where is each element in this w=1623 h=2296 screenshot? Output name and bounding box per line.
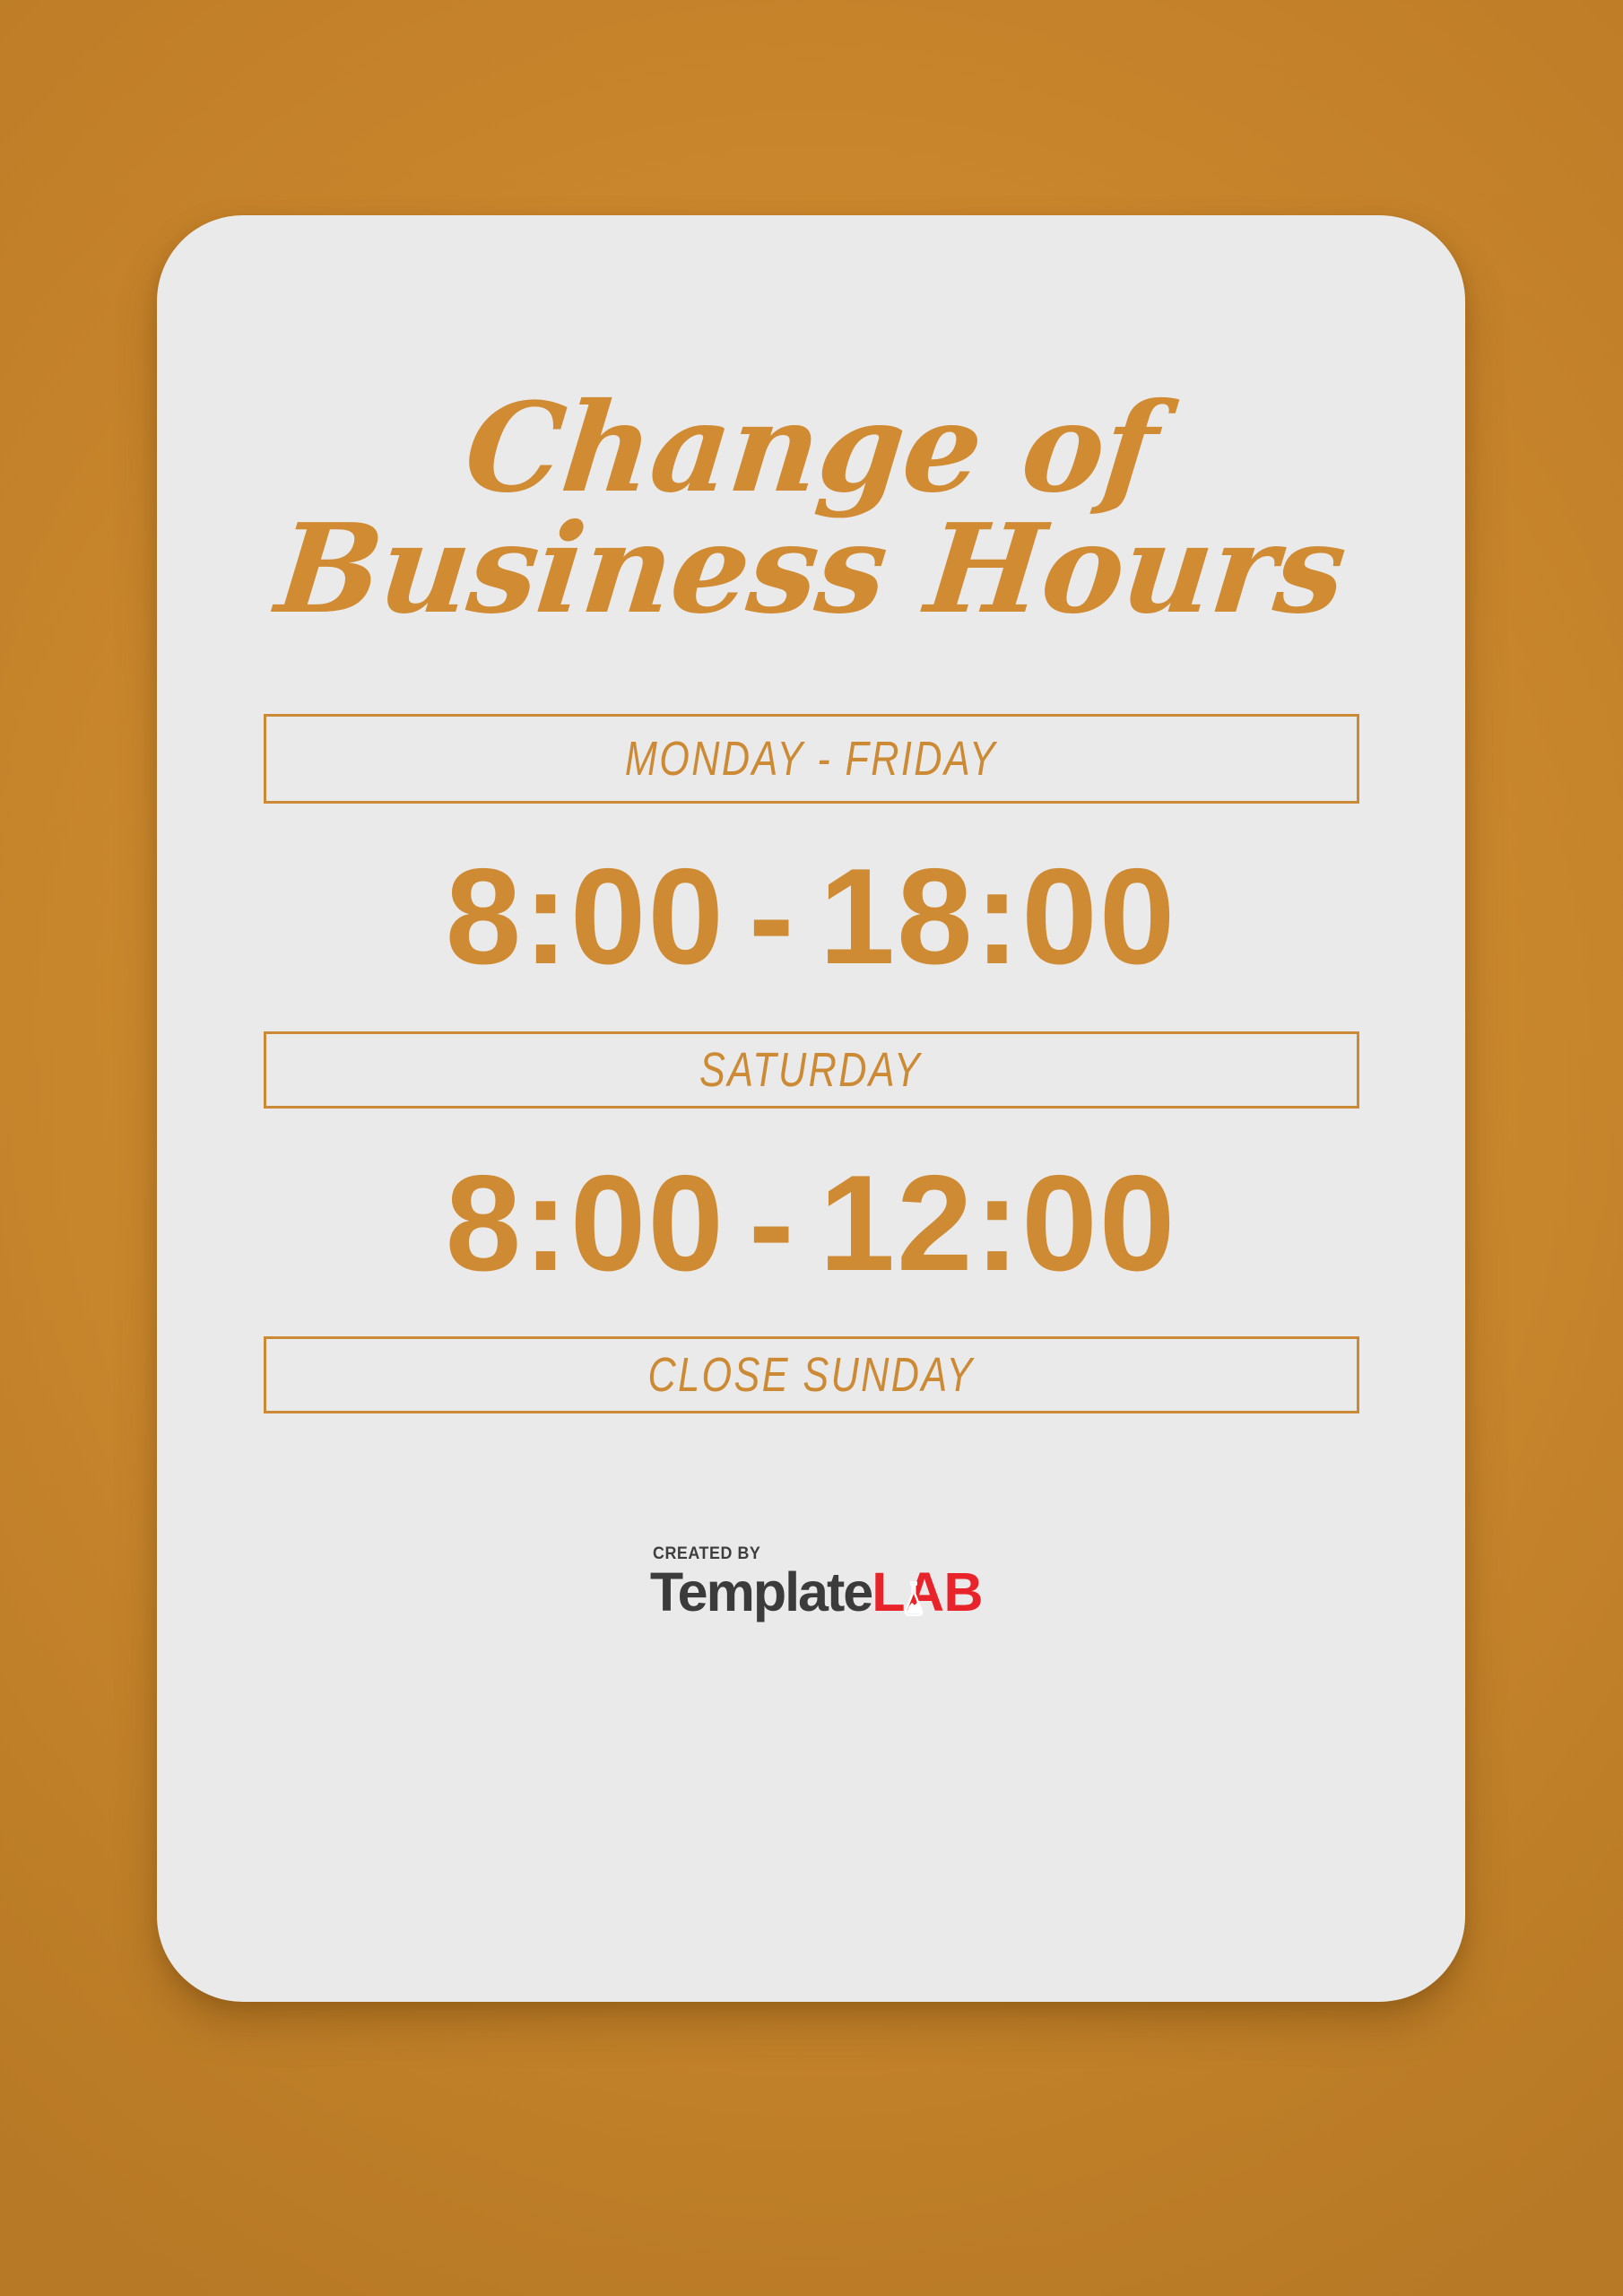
day-label-box-weekday: MONDAY - FRIDAY xyxy=(264,714,1359,804)
hours-saturday-open: 8:00 xyxy=(446,1147,725,1300)
hours-saturday-separator: - xyxy=(725,1155,820,1291)
day-label-sunday-closed: CLOSE SUNDAY xyxy=(647,1347,974,1403)
title-line-2: Business Hours xyxy=(151,512,1471,628)
day-label-box-saturday: SATURDAY xyxy=(264,1031,1359,1109)
hours-saturday-close: 12:00 xyxy=(820,1147,1177,1300)
hours-weekday: 8:00-18:00 xyxy=(264,804,1359,1031)
logo-brand-lab: LAB xyxy=(872,1565,983,1620)
day-label-box-sunday-closed: CLOSE SUNDAY xyxy=(264,1336,1359,1413)
poster-card: Change of Business Hours MONDAY - FRIDAY… xyxy=(157,215,1465,2002)
day-label-weekday: MONDAY - FRIDAY xyxy=(625,731,997,787)
day-label-saturday: SATURDAY xyxy=(699,1042,922,1098)
hours-weekday-separator: - xyxy=(725,848,820,985)
hours-saturday: 8:00-12:00 xyxy=(264,1109,1359,1336)
logo-created-by-text: CREATED BY xyxy=(653,1544,760,1564)
logo-brand-template: Template xyxy=(650,1565,872,1620)
schedule-list: MONDAY - FRIDAY 8:00-18:00 SATURDAY 8:00… xyxy=(264,714,1359,1413)
hours-weekday-open: 8:00 xyxy=(446,840,725,993)
business-hours-poster: Change of Business Hours MONDAY - FRIDAY… xyxy=(0,0,1623,2296)
logo-brand-lab-text: LAB xyxy=(872,1561,983,1622)
title-line-1: Change of xyxy=(151,391,1471,507)
templatelab-logo: CREATED BY Template LAB xyxy=(650,1544,983,1620)
hours-weekday-close: 18:00 xyxy=(820,840,1177,993)
page-title: Change of Business Hours xyxy=(157,391,1465,628)
